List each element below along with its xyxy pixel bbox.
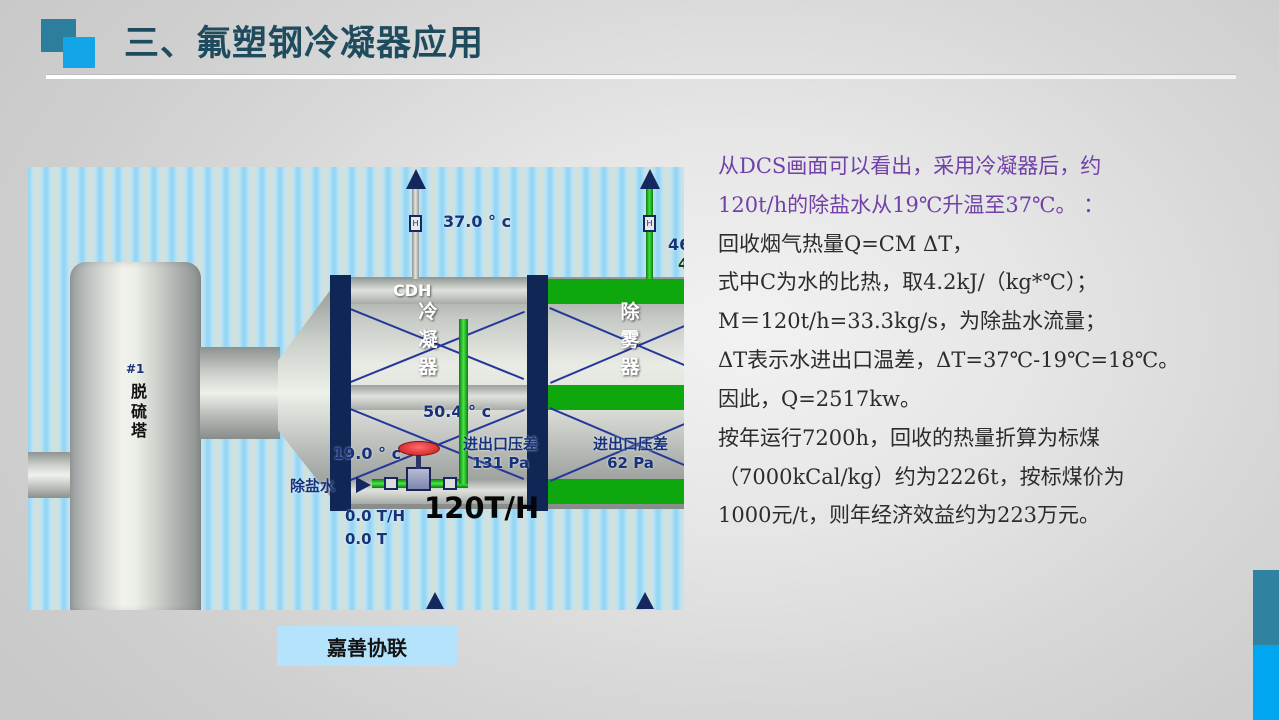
pressure-drop-1-value: 131 Pa	[463, 454, 538, 472]
flow-arrow-right-icon	[356, 477, 371, 493]
temp-reading-demin-water: 19.0 ° c	[333, 444, 401, 463]
temp-reading-demister-outlet: 46.2 ° c	[668, 235, 684, 254]
tower-tag-label: #1	[126, 362, 144, 376]
vessel-flange	[527, 275, 548, 511]
isolation-valve-icon	[443, 477, 457, 490]
body-text-line: （7000kCal/kg）约为2226t，按标煤价为	[718, 463, 1238, 493]
flow-arrow-up-icon	[406, 169, 426, 189]
body-text-line: 1000元/t，则年经济效益约为223万元。	[718, 501, 1238, 531]
slide-root: 三、氟塑钢冷凝器应用 #1 脱硫塔 CDH 冷凝器 除雾器	[0, 0, 1279, 720]
demister-name-label: 除雾器	[616, 299, 644, 382]
cdh-label: CDH	[393, 281, 431, 300]
body-text-line: M＝120t/h=33.3kg/s，为除盐水流量；	[718, 307, 1238, 337]
demister-band-top	[546, 279, 684, 304]
page-title: 三、氟塑钢冷凝器应用	[124, 15, 484, 66]
flow-reading-total: 0.0 T	[345, 530, 387, 548]
control-valve-body-icon	[406, 467, 431, 491]
flow-arrow-up-icon	[640, 169, 660, 189]
dcs-screenshot: #1 脱硫塔 CDH 冷凝器 除雾器 H 37.0 ° c	[28, 167, 684, 610]
body-text-block: 从DCS画面可以看出，采用冷凝器后，约120t/h的除盐水从19℃升温至37℃。…	[718, 152, 1238, 540]
demin-water-label: 除盐水	[290, 475, 335, 496]
tower-to-condenser-duct	[200, 347, 280, 439]
temp-reading-demister-band: 46.2	[678, 255, 684, 273]
tower-side-pipe	[28, 452, 72, 498]
temp-reading-condenser-outlet: 37.0 ° c	[443, 212, 511, 231]
isolation-valve-icon	[384, 477, 398, 490]
edge-accent-blue	[1253, 645, 1279, 720]
image-caption: 嘉善协联	[277, 626, 457, 666]
pressure-drop-2-label: 进出口压差	[593, 433, 668, 454]
temperature-meter-icon: H	[409, 215, 422, 232]
demister-band-bottom	[546, 479, 684, 504]
demister-outlet-stack	[646, 185, 653, 279]
body-text-line: ΔT表示水进出口温差，ΔT=37℃-19℃=18℃。	[718, 346, 1238, 376]
bottom-flow-arrow-icon	[426, 592, 444, 609]
body-text-line: 120t/h的除盐水从19℃升温至37℃。 ：	[718, 191, 1238, 221]
header-divider	[46, 74, 1236, 79]
temperature-meter-icon: H	[643, 215, 656, 232]
body-text-line: 按年运行7200h，回收的热量折算为标煤	[718, 424, 1238, 454]
pressure-drop-1-label: 进出口压差	[463, 433, 538, 454]
edge-accent-teal	[1253, 570, 1279, 645]
body-text-line: 因此，Q=2517kw。	[718, 385, 1238, 415]
pressure-drop-2-value: 62 Pa	[593, 454, 668, 472]
condenser-name-label: 冷凝器	[414, 299, 442, 382]
body-text-line: 式中C为水的比热，取4.2kJ/（kg*℃）；	[718, 268, 1238, 298]
flow-rate-overlay: 120T/H	[424, 491, 539, 525]
pressure-drop-1: 进出口压差 131 Pa	[463, 433, 538, 472]
header-square-bright	[63, 37, 95, 68]
pressure-drop-2: 进出口压差 62 Pa	[593, 433, 668, 472]
control-valve-actuator-icon	[398, 441, 440, 456]
temp-reading-vessel-inlet: 50.4 ° c	[423, 402, 491, 421]
bottom-flow-arrow-icon	[636, 592, 654, 609]
body-text-line: 回收烟气热量Q=CM ΔT，	[718, 230, 1238, 260]
flow-reading-rate: 0.0 T/H	[345, 507, 405, 525]
condenser-outlet-stack	[412, 185, 419, 279]
tower-name-label: 脱硫塔	[126, 382, 152, 441]
demister-band-mid	[546, 385, 684, 410]
body-text-line: 从DCS画面可以看出，采用冷凝器后，约	[718, 152, 1238, 182]
